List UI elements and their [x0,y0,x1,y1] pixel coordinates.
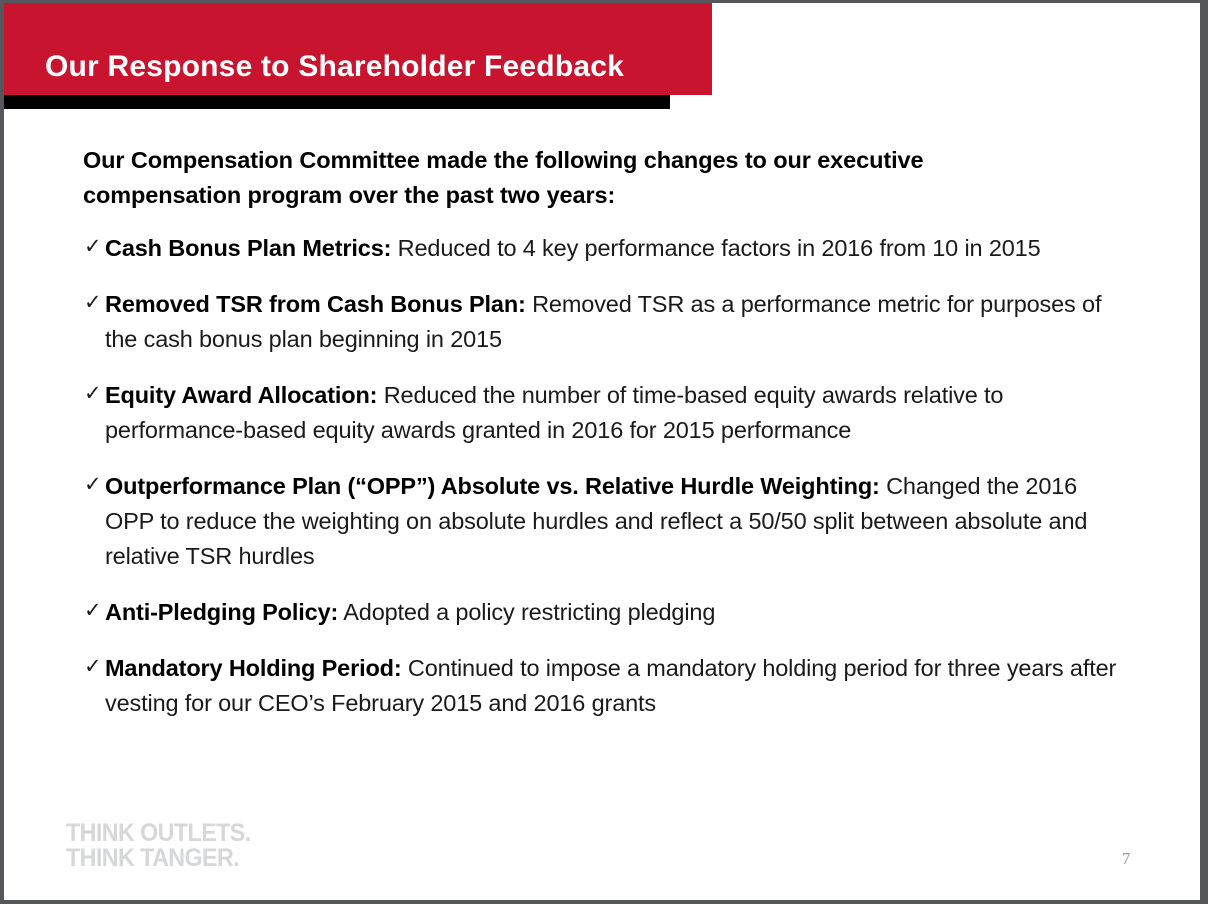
bullet-lead-label: Outperformance Plan (“OPP”) Absolute vs.… [105,473,880,499]
checkmark-icon: ✓ [84,649,101,684]
bullet-item-cash-bonus-plan-metrics: ✓ Cash Bonus Plan Metrics: Reduced to 4 … [83,231,1138,266]
slide-header-underbar [0,95,670,109]
bullet-lead-label: Removed TSR from Cash Bonus Plan: [105,291,526,317]
bullet-item-removed-tsr-from-cash-bonus-plan: ✓ Removed TSR from Cash Bonus Plan: Remo… [83,287,1103,357]
slide-title: Our Response to Shareholder Feedback [45,50,624,84]
bullet-item-equity-award-allocation: ✓ Equity Award Allocation: Reduced the n… [83,378,1123,448]
bullet-lead-label: Anti-Pledging Policy: [105,599,338,625]
bullet-item-outperformance-plan-hurdle-weighting: ✓ Outperformance Plan (“OPP”) Absolute v… [83,469,1108,574]
bullet-lead-label: Cash Bonus Plan Metrics: [105,235,391,261]
intro-paragraph: Our Compensation Committee made the foll… [83,143,1038,213]
company-tagline-logo: THINK OUTLETS. THINK TANGER. [66,821,251,871]
checkmark-icon: ✓ [84,285,101,320]
bullet-body-text: Adopted a policy restricting pledging [338,599,715,625]
bullet-item-anti-pledging-policy: ✓ Anti-Pledging Policy: Adopted a policy… [83,595,1083,630]
bullet-lead-label: Mandatory Holding Period: [105,655,402,681]
tagline-line-2: THINK TANGER. [66,846,251,871]
bullet-lead-label: Equity Award Allocation: [105,382,377,408]
bullet-body-text: Reduced to 4 key performance factors in … [391,235,1040,261]
presentation-slide: Our Response to Shareholder Feedback Our… [0,0,1208,904]
checkmark-icon: ✓ [84,229,101,264]
page-number: 7 [1122,849,1131,869]
checkmark-icon: ✓ [84,467,101,502]
tagline-line-1: THINK OUTLETS. [66,821,251,846]
bullet-item-mandatory-holding-period: ✓ Mandatory Holding Period: Continued to… [83,651,1118,721]
checkmark-icon: ✓ [84,593,101,628]
slide-body: Our Compensation Committee made the foll… [83,143,1143,742]
checkmark-icon: ✓ [84,376,101,411]
